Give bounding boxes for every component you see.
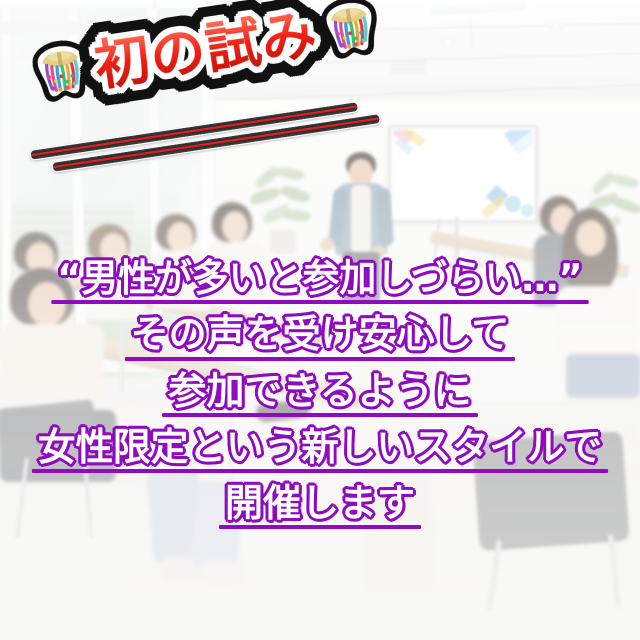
message-line: 女性限定という新しいスタイルで <box>36 427 604 471</box>
festival-streamer-icon <box>314 0 387 64</box>
poster-canvas: 初の試み <box>0 0 640 640</box>
message-line: 参加できるように <box>166 371 473 415</box>
message-block: “男性が多いと参加しづらい…” その声を受け安心して 参加できるように 女性限定… <box>0 258 640 539</box>
message-line: 開催します <box>223 483 417 527</box>
message-line: その声を受け安心して <box>129 314 512 358</box>
message-line: “男性が多いと参加しづらい…” <box>55 258 584 302</box>
festival-streamer-icon <box>25 35 98 108</box>
